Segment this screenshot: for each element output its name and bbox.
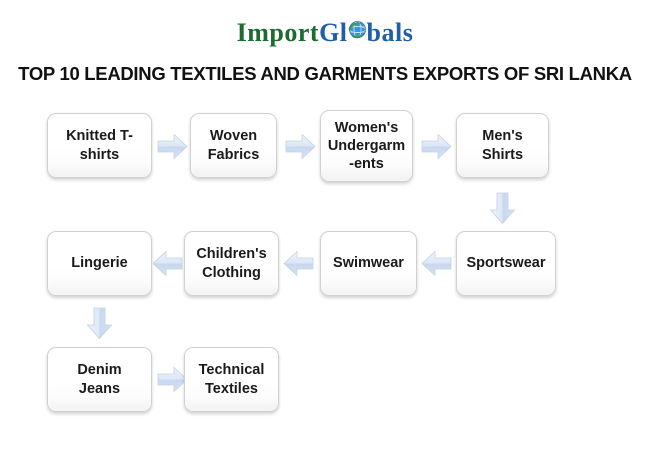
flow-node-lingerie[interactable]: Lingerie [47,231,152,296]
flow-node-label: Women's Undergarm -ents [328,119,405,173]
flowchart: Knitted T- shirts Woven Fabrics [0,0,650,450]
flow-node-sportswear[interactable]: Sportswear [456,231,556,296]
flow-node-mens-shirts[interactable]: Men's Shirts [456,113,549,178]
flow-node-childrens-clothing[interactable]: Children's Clothing [184,231,279,296]
flow-node-denim-jeans[interactable]: Denim Jeans [47,347,152,412]
flow-node-label: Technical Textiles [199,361,265,397]
flow-node-label: Lingerie [71,254,127,272]
flow-node-label: Denim Jeans [77,361,121,397]
flow-node-swimwear[interactable]: Swimwear [320,231,417,296]
flow-node-label: Swimwear [333,254,404,272]
flow-node-label: Men's Shirts [482,127,523,163]
arrow-womens-to-mens [421,133,452,160]
flow-node-label: Children's Clothing [196,245,266,281]
arrow-knitted-to-woven [157,133,188,160]
arrow-sportswear-to-swimwear [421,250,452,277]
flow-node-label: Sportswear [467,254,546,272]
arrow-woven-to-womens [285,133,316,160]
arrow-childrens-to-lingerie [152,250,183,277]
flow-node-knitted-t-shirts[interactable]: Knitted T- shirts [47,113,152,178]
flow-node-womens-undergarments[interactable]: Women's Undergarm -ents [320,110,413,182]
arrow-swimwear-to-childrens [283,250,314,277]
arrow-mens-to-sportswear [489,192,516,225]
flow-node-technical-textiles[interactable]: Technical Textiles [184,347,279,412]
flow-node-woven-fabrics[interactable]: Woven Fabrics [190,113,277,178]
flow-node-label: Woven Fabrics [208,127,260,163]
flow-node-label: Knitted T- shirts [66,127,133,163]
arrow-lingerie-to-denim [86,307,113,340]
